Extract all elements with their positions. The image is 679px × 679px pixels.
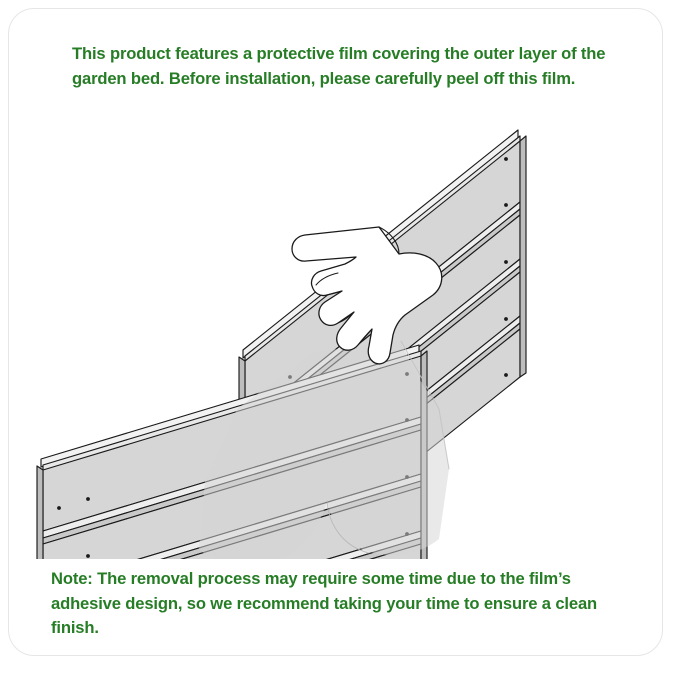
scene-group <box>37 130 526 559</box>
lower-left-lip <box>37 466 43 559</box>
bottom-note-text: Note: The removal process may require so… <box>51 567 636 641</box>
instruction-card: This product features a protective film … <box>8 8 663 656</box>
top-instruction-text: This product features a protective film … <box>72 42 632 91</box>
illustration-svg <box>9 109 662 559</box>
garden-bed-illustration <box>9 109 662 559</box>
upper-right-cap <box>520 136 526 377</box>
